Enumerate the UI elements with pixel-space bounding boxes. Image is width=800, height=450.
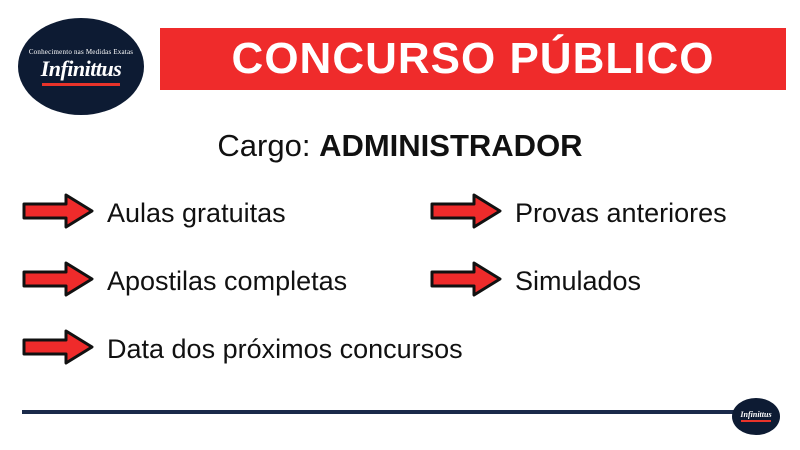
arrow-right-icon: [22, 328, 94, 371]
list-item-label: Aulas gratuitas: [107, 199, 286, 229]
subtitle-role: ADMINISTRADOR: [319, 128, 583, 163]
list-item: Provas anteriores: [430, 192, 727, 235]
subtitle: Cargo: ADMINISTRADOR: [0, 128, 800, 164]
slide-canvas: Conhecimento nas Medidas Exatas Infinitt…: [0, 0, 800, 450]
list-item-label: Simulados: [515, 267, 641, 297]
brand-name: Infinittus: [41, 58, 122, 80]
list-item: Simulados: [430, 260, 641, 303]
brand-tagline: Conhecimento nas Medidas Exatas: [29, 48, 133, 56]
subtitle-label: Cargo:: [217, 128, 319, 163]
page-title: CONCURSO PÚBLICO: [232, 37, 715, 81]
title-banner: CONCURSO PÚBLICO: [160, 28, 786, 90]
list-item: Apostilas completas: [22, 260, 347, 303]
arrow-right-icon: [22, 260, 94, 303]
footer-logo-underline: [741, 420, 771, 422]
list-item-label: Apostilas completas: [107, 267, 347, 297]
footer-logo: Infinittus: [732, 398, 780, 435]
arrow-right-icon: [430, 192, 502, 235]
brand-underline: [42, 83, 120, 86]
footer-logo-name: Infinittus: [740, 411, 771, 419]
arrow-right-icon: [430, 260, 502, 303]
list-item: Data dos próximos concursos: [22, 328, 463, 371]
footer-divider: [22, 410, 742, 414]
brand-logo: Conhecimento nas Medidas Exatas Infinitt…: [18, 18, 144, 115]
arrow-right-icon: [22, 192, 94, 235]
list-item-label: Data dos próximos concursos: [107, 335, 463, 365]
list-item: Aulas gratuitas: [22, 192, 286, 235]
list-item-label: Provas anteriores: [515, 199, 727, 229]
